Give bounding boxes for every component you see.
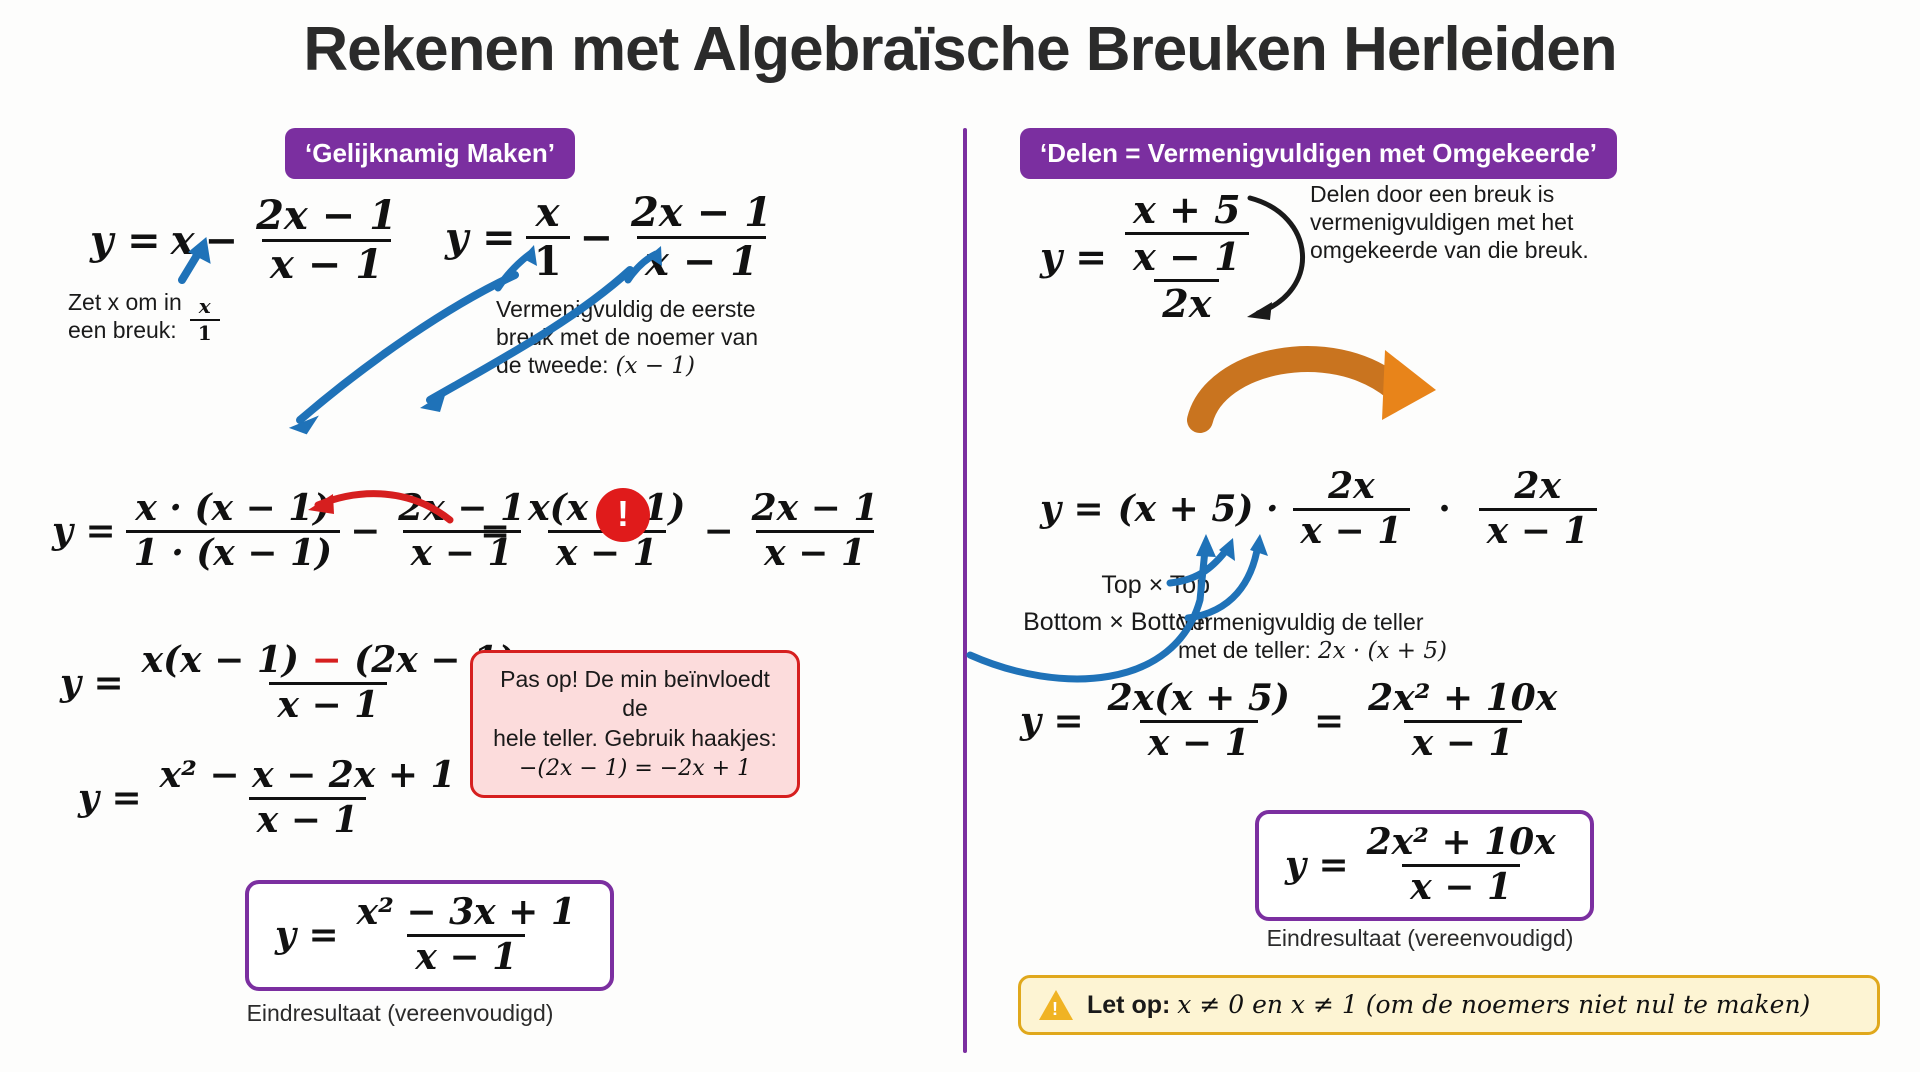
eq1-fraction: 2x − 1 x − 1 [248, 195, 405, 286]
eq1-lhs: y = [90, 217, 161, 264]
eq3b-f2-top: 2x − 1 [744, 490, 887, 530]
eq2-f1-bottom: 1 [526, 236, 570, 283]
note-multiply-line3-label: de tweede: [496, 351, 609, 379]
right-eq3-f1-top: 2x(x + 5) [1100, 680, 1298, 720]
eq3-f1-bottom: 1 · (x − 1) [126, 530, 340, 573]
eq3b-operator: − [703, 510, 733, 552]
left-section-badge: ‘Gelijknamig Maken’ [285, 128, 575, 179]
footnote-label: Let op: [1087, 991, 1170, 1019]
right-eq3-fraction-1: 2x(x + 5) x − 1 [1100, 680, 1298, 763]
note-numerator-line1: Vermenigvuldig de teller [1178, 608, 1498, 636]
note-multiply-line1: Vermenigvuldig de eerste [496, 295, 846, 323]
eq5-bottom: x − 1 [249, 797, 367, 840]
right-eq2-f2-bottom: x − 1 [1479, 508, 1597, 551]
left-equation-5: y = x² − x − 2x + 1 x − 1 [78, 757, 464, 840]
right-eq2-factor: (x + 5) · [1118, 488, 1279, 530]
warning-line1: Pas op! De min beïnvloedt de [489, 665, 781, 724]
warning-triangle-icon: ! [1039, 990, 1073, 1020]
left-equation-4: y = x(x − 1) − (2x − 1) x − 1 [60, 642, 523, 725]
right-eq2-dot: · [1424, 488, 1465, 530]
eq1-operator: − [205, 217, 239, 264]
right-eq2-f2-top: 2x [1506, 468, 1569, 508]
right-eq3-f2-bottom: x − 1 [1404, 720, 1522, 763]
right-eq1-inner-top: x + 5 [1125, 190, 1248, 232]
infographic-page: Rekenen met Algebraïsche Breuken Herleid… [0, 0, 1920, 1072]
right-eq1-outer-bottom: 2x [1154, 279, 1219, 324]
eq4-top-minus: − [311, 639, 341, 681]
right-eq2-fraction-1: 2x x − 1 [1293, 468, 1411, 551]
right-eq1-inner-fraction: x + 5 x − 1 [1117, 190, 1256, 279]
note-multiply-line3-math: (x − 1) [616, 352, 695, 380]
right-eq2-fraction-2: 2x x − 1 [1479, 468, 1597, 551]
right-result-lhs: y = [1285, 844, 1349, 886]
right-eq2-f1-top: 2x [1320, 468, 1383, 508]
eq5-top: x² − x − 2x + 1 [152, 757, 464, 797]
eq3-lhs: y = [52, 510, 116, 552]
note-convert-line1: Zet x om in [68, 288, 182, 316]
left-equation-2: y = x 1 − 2x − 1 x − 1 [445, 192, 780, 283]
right-result-bottom: x − 1 [1402, 864, 1520, 907]
right-eq3-f2-top: 2x² + 10x [1360, 680, 1565, 720]
note-convert-line2: een breuk: [68, 316, 182, 344]
note-convert-fraction: x 1 [190, 296, 220, 344]
right-result-equation: y = 2x² + 10x x − 1 [1285, 824, 1564, 907]
left-result-bottom: x − 1 [407, 934, 525, 977]
eq2-lhs: y = [445, 214, 516, 261]
eq3-fraction-1: x · (x − 1) 1 · (x − 1) [126, 490, 340, 573]
right-eq1-inner-bottom: x − 1 [1125, 232, 1248, 277]
note-divide-by-fraction: Delen door een breuk is vermenigvuldigen… [1310, 180, 1630, 264]
warning-line2: hele teller. Gebruik haakjes: [489, 724, 781, 753]
left-result-top: x² − 3x + 1 [349, 894, 584, 934]
arrow-flip-orange [1200, 350, 1436, 420]
note-multiply-numerators: Vermenigvuldig de teller met de teller: … [1178, 608, 1498, 665]
eq3-f1-top: x · (x − 1) [127, 490, 338, 530]
eq4-fraction: x(x − 1) − (2x − 1) x − 1 [134, 642, 523, 725]
eq2-fraction-2: 2x − 1 x − 1 [623, 192, 780, 283]
note-top-times-top: Top × Top [950, 570, 1210, 601]
note-bottom-times-bottom: Bottom × Bottom [950, 607, 1210, 638]
warning-line3: −(2x − 1) = −2x + 1 [489, 755, 781, 783]
eq2-f2-bottom: x − 1 [637, 236, 766, 283]
left-result-fraction: x² − 3x + 1 x − 1 [349, 894, 584, 977]
eq4-bottom: x − 1 [269, 682, 387, 725]
eq3b-f2-bottom: x − 1 [756, 530, 874, 573]
eq4-top: x(x − 1) − (2x − 1) [134, 642, 523, 682]
arrow-to-eq3-left [289, 275, 515, 436]
alert-exclamation-icon: ! [596, 488, 650, 542]
eq2-fraction-1: x 1 [526, 192, 570, 283]
footnote-text: x ≠ 0 en x ≠ 1 (om de noemers niet nul t… [1177, 990, 1810, 1019]
note-convert-x: Zet x om in een breuk: x 1 [68, 288, 318, 344]
right-eq3-equals: = [1314, 700, 1344, 742]
note-divide-line1: Delen door een breuk is [1310, 180, 1630, 208]
domain-restriction-note: ! Let op: x ≠ 0 en x ≠ 1 (om de noemers … [1018, 975, 1880, 1035]
right-equation-3: y = 2x(x + 5) x − 1 = 2x² + 10x x − 1 [1020, 680, 1565, 763]
left-result-lhs: y = [275, 914, 339, 956]
eq2-f1-top: x [528, 192, 568, 236]
left-equation-1: y = x − 2x − 1 x − 1 [90, 195, 405, 286]
right-eq2-f1-bottom: x − 1 [1293, 508, 1411, 551]
right-eq2-lhs: y = [1040, 488, 1104, 530]
right-result-box: y = 2x² + 10x x − 1 [1255, 810, 1594, 921]
eq4-top-a: x(x − 1) [142, 639, 299, 681]
right-result-top: 2x² + 10x [1359, 824, 1564, 864]
eq2-f2-top: 2x − 1 [623, 192, 780, 236]
eq3b-lhs: = [480, 510, 510, 552]
eq1-frac-bottom: x − 1 [262, 239, 391, 286]
left-equation-3: y = x · (x − 1) 1 · (x − 1) − 2x − 1 x −… [52, 490, 533, 573]
left-result-caption: Eindresultaat (vereenvoudigd) [210, 1000, 590, 1027]
right-eq3-f1-bottom: x − 1 [1140, 720, 1258, 763]
note-multiply-first: Vermenigvuldig de eerste breuk met de no… [496, 295, 846, 380]
note-convert-frac-bottom: 1 [190, 319, 220, 344]
left-equation-3b: = x(x − 1) x − 1 − 2x − 1 x − 1 [480, 490, 886, 573]
right-result-fraction: 2x² + 10x x − 1 [1359, 824, 1564, 907]
note-numerator-line2-label: met de teller: [1178, 636, 1311, 664]
eq3-operator: − [350, 510, 380, 552]
right-equation-2: y = (x + 5) · 2x x − 1 · 2x x − 1 [1040, 468, 1597, 551]
note-divide-line2: vermenigvuldigen met het [1310, 208, 1630, 236]
eq3b-fraction-2: 2x − 1 x − 1 [744, 490, 887, 573]
page-title: Rekenen met Algebraïsche Breuken Herleid… [0, 14, 1920, 85]
left-result-box: y = x² − 3x + 1 x − 1 [245, 880, 614, 991]
eq5-lhs: y = [78, 777, 142, 819]
right-eq1-complex-fraction: x + 5 x − 1 2x [1117, 190, 1256, 324]
note-numerator-line2-math: 2x · (x + 5) [1318, 637, 1447, 665]
right-result-caption: Eindresultaat (vereenvoudigd) [1220, 925, 1620, 952]
right-section-badge: ‘Delen = Vermenigvuldigen met Omgekeerde… [1020, 128, 1617, 179]
eq5-fraction: x² − x − 2x + 1 x − 1 [152, 757, 464, 840]
left-result-equation: y = x² − 3x + 1 x − 1 [275, 894, 584, 977]
note-top-bottom: Top × Top Bottom × Bottom [950, 570, 1210, 637]
right-eq3-lhs: y = [1020, 700, 1084, 742]
right-eq1-lhs: y = [1040, 234, 1107, 279]
eq1-frac-top: 2x − 1 [248, 195, 405, 239]
minus-warning-box: Pas op! De min beïnvloedt de hele teller… [470, 650, 800, 798]
note-multiply-line2: breuk met de noemer van [496, 323, 846, 351]
note-divide-line3: omgekeerde van die breuk. [1310, 236, 1630, 264]
note-convert-frac-top: x [191, 296, 219, 319]
eq1-term: x [171, 217, 195, 264]
eq4-lhs: y = [60, 662, 124, 704]
right-eq3-fraction-2: 2x² + 10x x − 1 [1360, 680, 1565, 763]
left-column: ‘Gelijknamig Maken’ y = x − 2x − 1 x − 1… [30, 120, 960, 1050]
eq2-operator: − [580, 214, 614, 261]
right-equation-1: y = x + 5 x − 1 2x [1040, 190, 1257, 324]
right-column: ‘Delen = Vermenigvuldigen met Omgekeerde… [1000, 120, 1900, 1050]
